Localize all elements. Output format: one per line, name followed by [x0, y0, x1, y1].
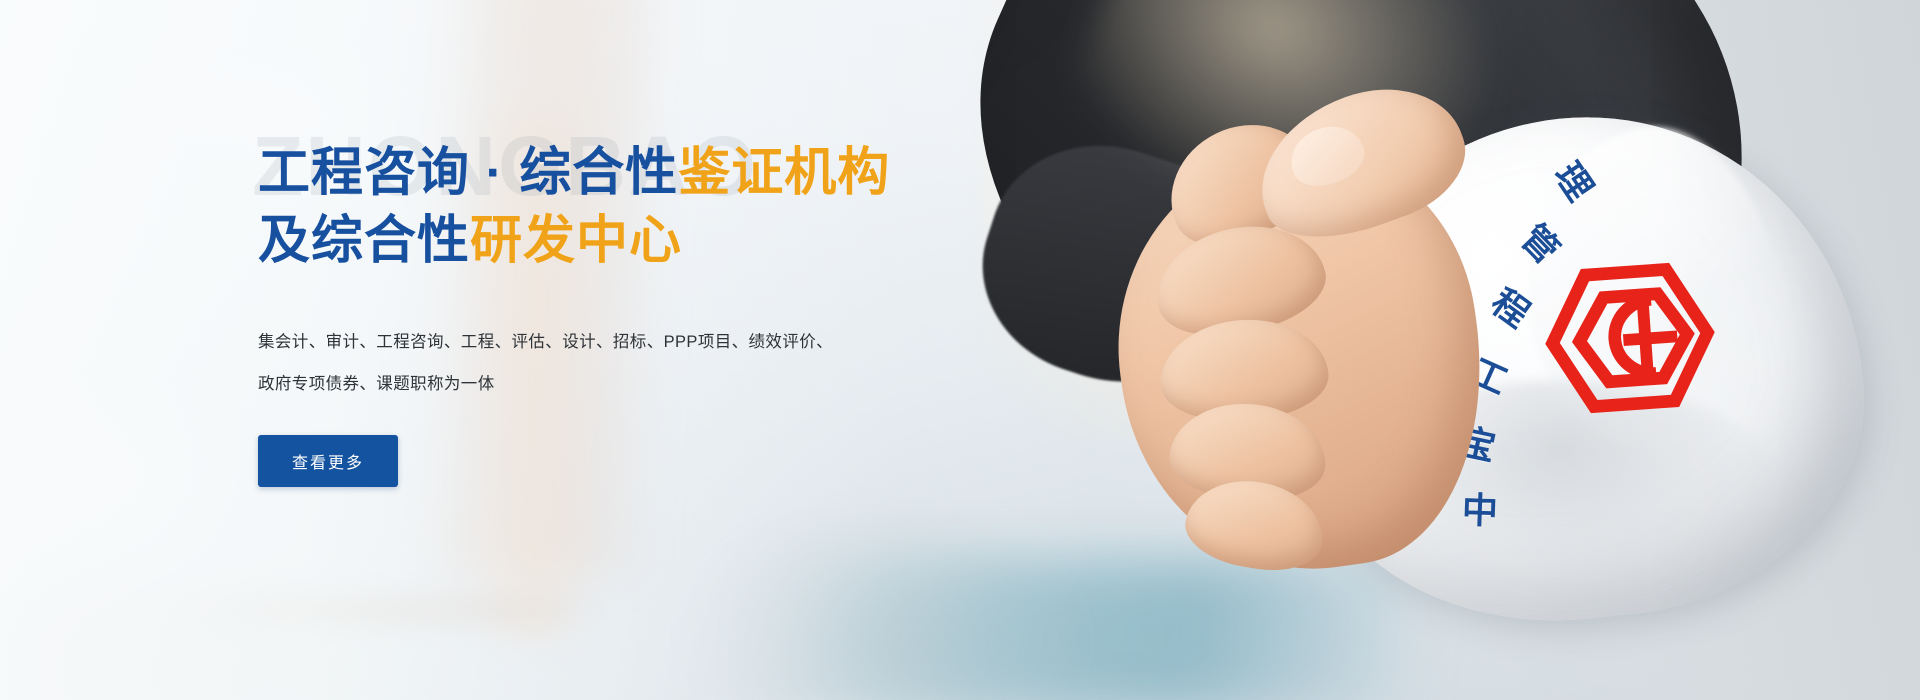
helmet-char-5: 中: [1461, 481, 1499, 534]
headline-line-2-blue: 及综合性: [258, 212, 470, 270]
hero-content: ZHONGBAO 工程咨询 · 综合性鉴证机构 及综合性研发中心 集会计、审计、…: [258, 140, 1018, 487]
helmet-char-1: 管: [1511, 211, 1573, 273]
headline-line-2: 及综合性研发中心: [258, 208, 1018, 276]
headline-line-1: 工程咨询 · 综合性鉴证机构: [258, 140, 1018, 208]
helmet-char-0: 理: [1544, 151, 1607, 210]
page-title: 工程咨询 · 综合性鉴证机构 及综合性研发中心: [258, 140, 1018, 275]
helmet-char-2: 程: [1482, 274, 1542, 337]
headline-line-2-orange: 研发中心: [470, 212, 682, 270]
headline-line-1-orange: 鉴证机构: [678, 144, 890, 202]
hero-banner: 理 管 程 工 宝 中 ZHONGBAO 工程咨询 · 综合性鉴证机构 及综合性…: [0, 0, 1920, 700]
description-line-2: 政府专项债券、课题职称为一体: [258, 363, 978, 405]
hero-description: 集会计、审计、工程咨询、工程、评估、设计、招标、PPP项目、绩效评价、 政府专项…: [258, 321, 978, 405]
headline-line-1-blue: 工程咨询 · 综合性: [258, 144, 678, 202]
view-more-button[interactable]: 查看更多: [258, 435, 398, 487]
description-line-1: 集会计、审计、工程咨询、工程、评估、设计、招标、PPP项目、绩效评价、: [258, 321, 978, 363]
